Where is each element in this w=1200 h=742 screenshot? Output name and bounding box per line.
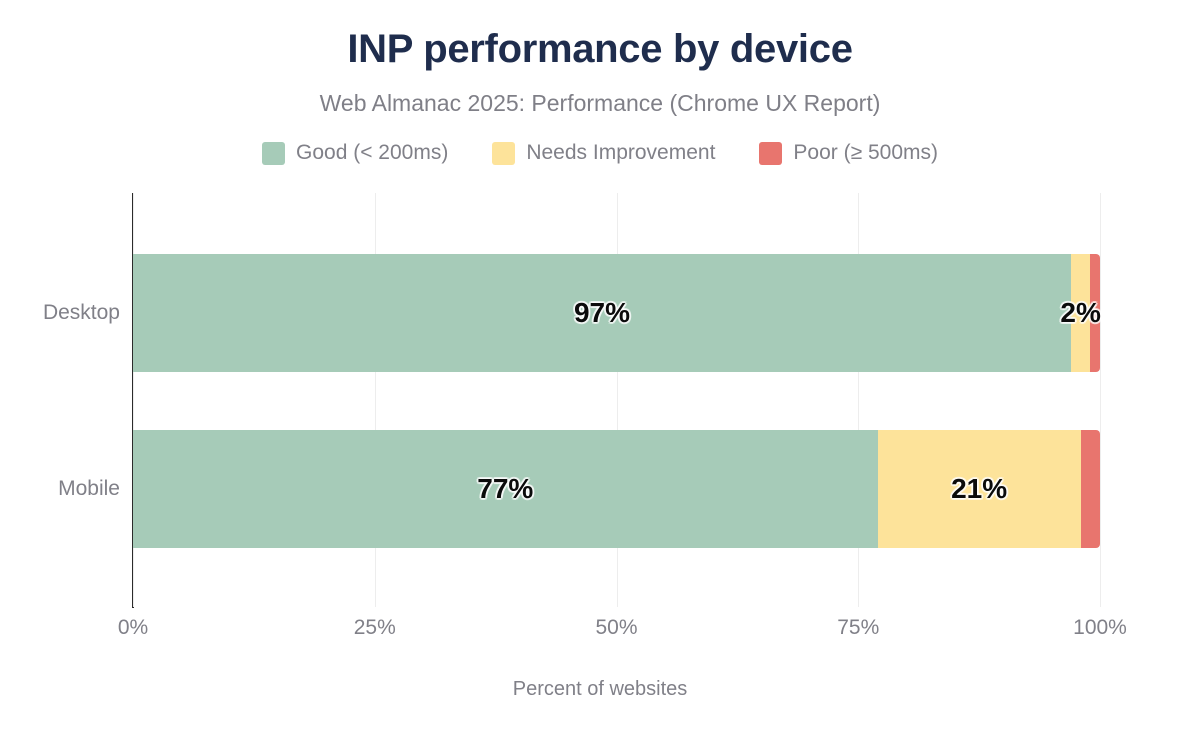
bar-segment[interactable] [1081, 430, 1100, 548]
bar-value-label: 2% [1060, 297, 1100, 329]
x-axis-tick-label: 100% [1073, 616, 1127, 640]
x-axis-tick-label: 25% [354, 616, 396, 640]
bar-value-label: 97% [574, 297, 630, 329]
bar-segment[interactable]: 77% [133, 430, 878, 548]
plot-area: 97%2%77%21% [133, 193, 1100, 607]
bar-segment[interactable]: 2% [1071, 254, 1090, 372]
x-axis-tick-label: 75% [837, 616, 879, 640]
x-axis-tick-label: 50% [595, 616, 637, 640]
bar-value-label: 77% [477, 473, 533, 505]
chart-subtitle: Web Almanac 2025: Performance (Chrome UX… [0, 90, 1200, 117]
legend-label-needs-improvement: Needs Improvement [526, 141, 715, 165]
bar-row[interactable]: 77%21% [133, 430, 1100, 548]
gridline [1100, 193, 1101, 607]
legend-item-needs-improvement[interactable]: Needs Improvement [492, 141, 715, 165]
chart-title: INP performance by device [0, 27, 1200, 72]
legend-swatch-needs-improvement-icon [492, 142, 515, 165]
legend-label-poor: Poor (≥ 500ms) [793, 141, 938, 165]
bar-row[interactable]: 97%2% [133, 254, 1100, 372]
legend-swatch-good-icon [262, 142, 285, 165]
legend-item-good[interactable]: Good (< 200ms) [262, 141, 448, 165]
y-axis-tick-label-desktop: Desktop [10, 301, 120, 325]
legend-label-good: Good (< 200ms) [296, 141, 448, 165]
bar-value-label: 21% [951, 473, 1007, 505]
x-axis-title: Percent of websites [0, 678, 1200, 701]
bar-segment[interactable]: 97% [133, 254, 1071, 372]
y-axis-tick-label-mobile: Mobile [10, 477, 120, 501]
legend-item-poor[interactable]: Poor (≥ 500ms) [759, 141, 938, 165]
x-axis-tick-label: 0% [118, 616, 148, 640]
bar-segment[interactable]: 21% [878, 430, 1081, 548]
chart-container: INP performance by device Web Almanac 20… [0, 0, 1200, 742]
legend-swatch-poor-icon [759, 142, 782, 165]
chart-legend: Good (< 200ms) Needs Improvement Poor (≥… [0, 141, 1200, 165]
